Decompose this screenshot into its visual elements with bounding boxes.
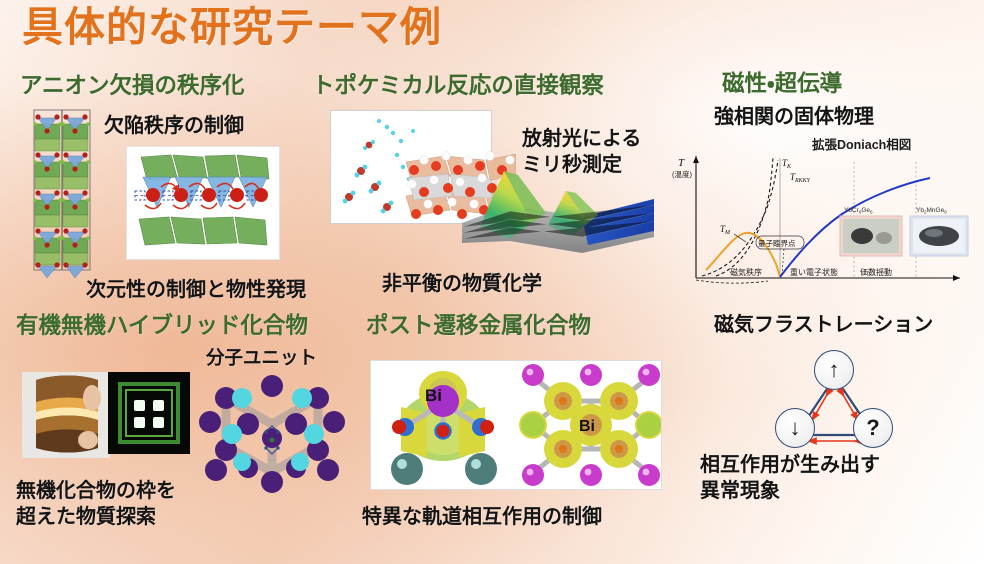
flexible-film-photo [22, 372, 110, 458]
caption-synchrotron-line1: 放射光による [522, 126, 641, 152]
bi-orbital-svg: Bi [371, 361, 661, 489]
el-device-svg [108, 372, 190, 454]
axis-label-T: T [678, 157, 685, 169]
annotation-TM: TM [720, 224, 731, 236]
subheading-correlated-solid-state-physics: 強相関の固体物理 [714, 105, 874, 130]
region-label-magnetic-order: 磁気秩序 [730, 267, 762, 277]
label-bi-left: Bi [425, 386, 442, 405]
caption-beyond-inorganic: 無機化合物の枠を 超えた物質探索 [16, 478, 176, 530]
crystal-structure-column-image [18, 100, 114, 280]
surface-plot-svg [462, 165, 654, 255]
flexible-film-svg [22, 372, 110, 458]
caption-nonequilibrium-chemistry: 非平衡の物質化学 [382, 272, 542, 297]
magnetic-frustration-diagram: ↑ ↓ ? [740, 345, 930, 450]
sample-label-ybcr6ge6: YbCr6Ge6 [844, 207, 873, 215]
section-heading-post-transition: ポスト遷移金属化合物 [366, 314, 591, 339]
defect-ordering-image [126, 146, 280, 260]
perovskite-svg [196, 372, 348, 494]
caption-anomalous-line2: 異常現象 [700, 478, 880, 504]
page-title: 具体的な研究テーマ例 [22, 6, 442, 49]
annotation-TK: TK [782, 158, 792, 170]
section-heading-magnetism: 磁性・超伝導 [722, 72, 842, 97]
phase-diagram-svg: T (温度) TK TRKKY TM 量子臨界点 磁気秩序 重い電子状態 価数揺… [672, 148, 972, 296]
axis-label-temperature: (温度) [672, 169, 692, 179]
caption-dimensionality-control: 次元性の制御と物性発現 [86, 278, 306, 303]
frustration-node-up: ↑ [814, 350, 854, 390]
doniach-phase-diagram-chart: T (温度) TK TRKKY TM 量子臨界点 磁気秩序 重い電子状態 価数揺… [672, 148, 972, 296]
caption-beyond-inorganic-line1: 無機化合物の枠を [16, 478, 176, 504]
region-label-valence-fluctuation: 価数揺動 [860, 267, 892, 277]
section-heading-topochemical: トポケミカル反応の直接観察 [312, 74, 604, 99]
region-label-heavy-fermion: 重い電子状態 [790, 267, 838, 277]
frustration-node-down: ↓ [775, 408, 815, 448]
annotation-quantum-critical-point: 量子臨界点 [758, 238, 796, 248]
three-d-surface-plot-image [462, 165, 654, 255]
hybrid-perovskite-structure-image [196, 372, 348, 494]
crystal-structure-svg [18, 100, 114, 280]
caption-anomalous-line1: 相互作用が生み出す [700, 452, 880, 478]
slide-root: 具体的な研究テーマ例 アニオン欠損の秩序化 欠陥秩序の制御 [0, 0, 984, 564]
electroluminescence-device-photo [108, 372, 190, 454]
bi-orbital-panels: Bi [370, 360, 662, 490]
label-bi-right: Bi [579, 418, 595, 435]
caption-defect-order-control: 欠陥秩序の制御 [104, 114, 244, 139]
section-heading-anion-vacancy: アニオン欠損の秩序化 [20, 74, 245, 99]
caption-anomalous-phenomena: 相互作用が生み出す 異常現象 [700, 452, 880, 504]
section-heading-hybrid: 有機無機ハイブリッド化合物 [16, 314, 308, 339]
frustration-node-question: ? [853, 408, 893, 448]
defect-ordering-svg [127, 147, 279, 259]
annotation-TRKKY: TRKKY [790, 172, 811, 184]
caption-beyond-inorganic-line2: 超えた物質探索 [16, 504, 176, 530]
caption-molecular-unit: 分子ユニット [206, 348, 317, 371]
caption-orbital-interaction-control: 特異な軌道相互作用の制御 [362, 505, 602, 530]
section-heading-frustration: 磁気フラストレーション [714, 313, 933, 338]
sample-label-yb2mnge6: Yb2MnGe6 [916, 207, 947, 215]
